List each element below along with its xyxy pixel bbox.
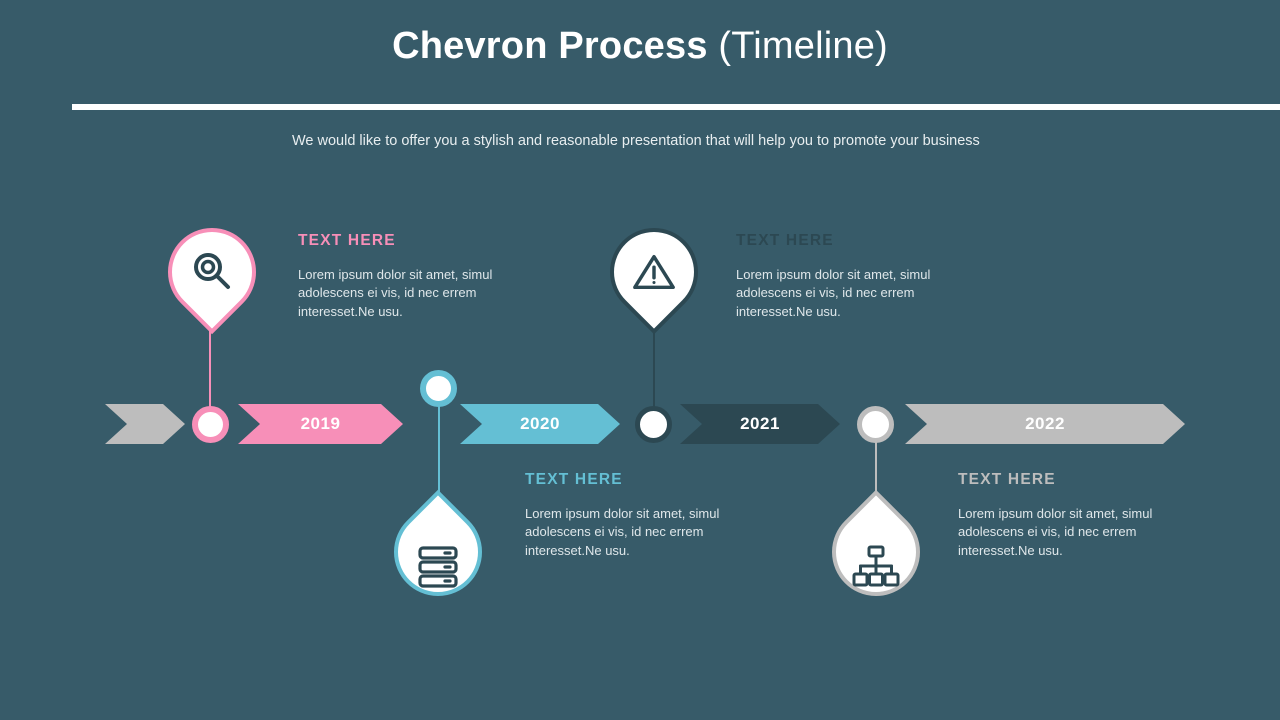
text-block-body-2022: Lorem ipsum dolor sit amet, simul adoles… [958, 505, 1178, 560]
chevron-segment-start[interactable] [105, 404, 185, 444]
page-title-bold: Chevron Process [392, 25, 708, 67]
timeline-node-2021[interactable] [635, 406, 672, 443]
text-block-heading-2021: TEXT HERE [736, 232, 956, 250]
text-block-2021: TEXT HERE Lorem ipsum dolor sit amet, si… [736, 232, 956, 321]
pin-marker-2021[interactable] [610, 228, 698, 330]
chevron-segment-2020[interactable]: 2020 [460, 404, 620, 444]
timeline-node-2019[interactable] [192, 406, 229, 443]
text-block-body-2020: Lorem ipsum dolor sit amet, simul adoles… [525, 505, 745, 560]
title-divider [72, 104, 1280, 110]
org-chart-icon [832, 522, 920, 610]
timeline-node-2022[interactable] [857, 406, 894, 443]
connector-line-2019 [209, 322, 211, 410]
magnifier-icon [168, 228, 256, 316]
text-block-body-2019: Lorem ipsum dolor sit amet, simul adoles… [298, 266, 518, 321]
page-title: Chevron Process (Timeline) [0, 26, 1280, 68]
page-subtitle: We would like to offer you a stylish and… [292, 132, 1052, 151]
chevron-segment-2022[interactable]: 2022 [905, 404, 1185, 444]
pin-marker-2020[interactable] [394, 508, 482, 610]
text-block-heading-2020: TEXT HERE [525, 471, 745, 489]
warning-triangle-icon [610, 228, 698, 316]
text-block-heading-2022: TEXT HERE [958, 471, 1178, 489]
timeline-node-2020[interactable] [420, 370, 457, 407]
text-block-2020: TEXT HERE Lorem ipsum dolor sit amet, si… [525, 471, 745, 560]
page-title-light: (Timeline) [718, 25, 888, 67]
slide-canvas: Chevron Process (Timeline) We would like… [0, 0, 1280, 720]
text-block-2022: TEXT HERE Lorem ipsum dolor sit amet, si… [958, 471, 1178, 560]
server-stack-icon [394, 522, 482, 610]
text-block-heading-2019: TEXT HERE [298, 232, 518, 250]
chevron-segment-2021[interactable]: 2021 [680, 404, 840, 444]
chevron-segment-2019[interactable]: 2019 [238, 404, 403, 444]
text-block-2019: TEXT HERE Lorem ipsum dolor sit amet, si… [298, 232, 518, 321]
connector-line-2021 [653, 322, 655, 410]
pin-marker-2022[interactable] [832, 508, 920, 610]
text-block-body-2021: Lorem ipsum dolor sit amet, simul adoles… [736, 266, 956, 321]
pin-marker-2019[interactable] [168, 228, 256, 330]
